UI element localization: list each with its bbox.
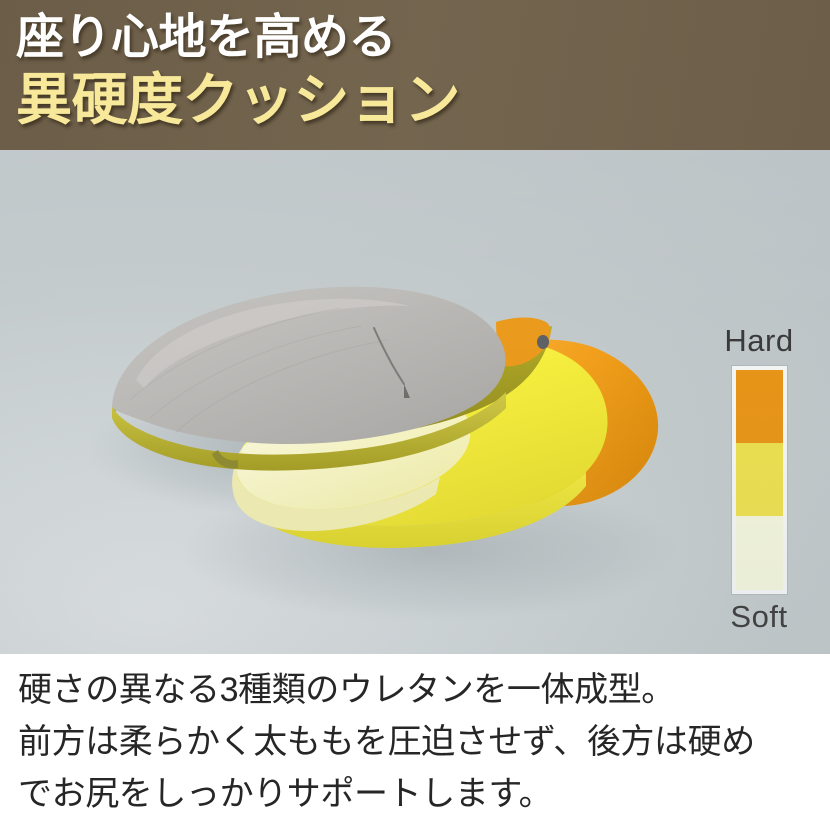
legend-segment-hard [736, 370, 783, 443]
banner-title-line-1: 座り心地を高める [16, 14, 396, 62]
legend-segment-medium [736, 443, 783, 516]
header-banner: 座り心地を高める 異硬度クッション [0, 0, 830, 150]
product-feature-panel: 座り心地を高める 異硬度クッション [0, 0, 830, 830]
caption-line-3: でお尻をしっかりサポートします。 [18, 768, 830, 820]
legend-label-hard: Hard [724, 325, 793, 358]
legend-segment-soft [736, 516, 783, 589]
legend-color-bar [732, 366, 787, 594]
caption-line-1: 硬さの異なる3種類のウレタンを一体成型。 [18, 664, 830, 716]
caption-block: 硬さの異なる3種類のウレタンを一体成型。 前方は柔らかく太ももを圧迫させず、後方… [0, 654, 830, 830]
legend-label-soft: Soft [730, 601, 787, 634]
caption-line-2: 前方は柔らかく太ももを圧迫させず、後方は硬め [18, 716, 830, 768]
hardness-legend: Hard Soft [700, 325, 818, 635]
product-image-stage: Hard Soft [0, 150, 830, 654]
banner-title-line-2: 異硬度クッション [16, 72, 460, 128]
cushion-edge-endcap [537, 335, 549, 349]
